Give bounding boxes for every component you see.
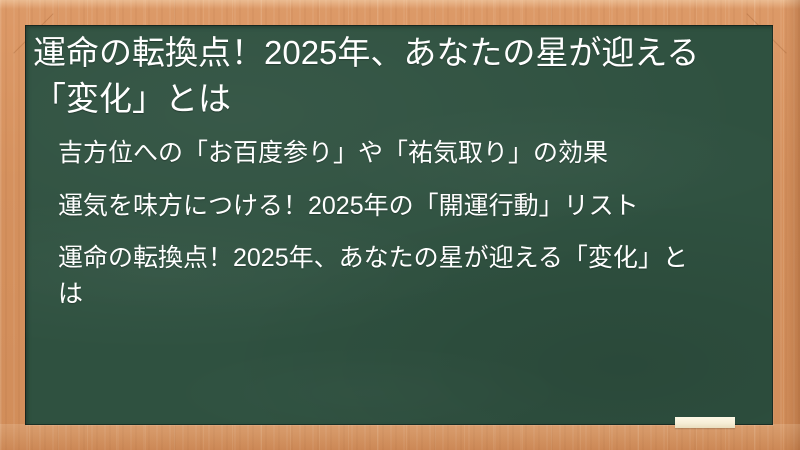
chalkboard-card: 運命の転換点！2025年、あなたの星が迎える「変化」とは 吉方位への「お百度参り…	[0, 0, 800, 450]
chalkboard-content: 運命の転換点！2025年、あなたの星が迎える「変化」とは 吉方位への「お百度参り…	[25, 25, 773, 312]
frame-top-highlight	[0, 0, 800, 9]
list-item[interactable]: 運気を味方につける！2025年の「開運行動」リスト	[58, 189, 751, 225]
list-item[interactable]: 運命の転換点！2025年、あなたの星が迎える「変化」とは	[58, 241, 751, 312]
page-title: 運命の転換点！2025年、あなたの星が迎える「変化」とは	[33, 30, 751, 122]
chalkboard-surface: 運命の転換点！2025年、あなたの星が迎える「変化」とは 吉方位への「お百度参り…	[25, 25, 773, 425]
list-item[interactable]: 吉方位への「お百度参り」や「祐気取り」の効果	[58, 136, 751, 172]
article-list: 吉方位への「お百度参り」や「祐気取り」の効果 運気を味方につける！2025年の「…	[33, 136, 751, 312]
chalk-stick	[675, 417, 735, 428]
frame-right-shading	[784, 0, 800, 450]
